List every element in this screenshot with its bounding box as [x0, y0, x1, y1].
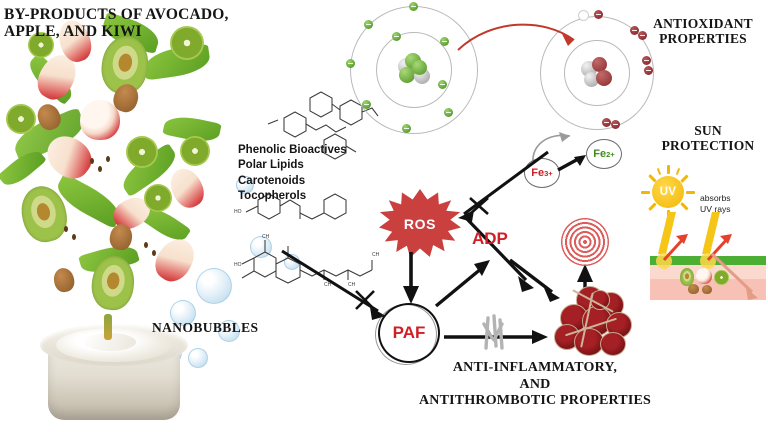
antioxidant-properties-title: ANTIOXIDANT PROPERTIES	[640, 16, 766, 46]
jar-dripping-stem	[104, 314, 112, 340]
nanobubble	[196, 268, 232, 304]
absorbs-caption-line: absorbs	[700, 193, 731, 204]
electron-transfer-arrow	[452, 16, 588, 60]
bottom-caption-line: ANTI-INFLAMMATORY,	[385, 360, 685, 377]
sun-protection-title: SUN PROTECTION	[652, 123, 764, 153]
svg-text:CH: CH	[262, 234, 270, 240]
atom-nucleus	[396, 52, 432, 88]
bottom-caption-line: AND	[385, 377, 685, 394]
electron	[392, 32, 401, 41]
electron	[402, 124, 411, 133]
electron	[362, 100, 371, 109]
electron	[642, 56, 651, 65]
electron	[644, 66, 653, 75]
uv-reflected-arrows	[658, 232, 768, 302]
ferrous-charge: 2+	[606, 150, 615, 159]
electron	[409, 2, 418, 11]
sun-title-line: PROTECTION	[652, 138, 764, 153]
uv-label: UV	[660, 186, 677, 198]
receptor-signal-rings	[561, 218, 609, 266]
svg-text:HO: HO	[234, 209, 242, 215]
electron	[364, 20, 373, 29]
page-title-line: APPLE, AND KIWI	[4, 23, 254, 40]
antioxidant-title-line: ANTIOXIDANT	[640, 16, 766, 31]
ferrous-ion-node: Fe2+	[586, 139, 622, 169]
cream-jar	[40, 300, 192, 426]
electron	[611, 120, 620, 129]
bottom-caption-line: ANTITHROMBOTIC PROPERTIES	[385, 393, 685, 410]
electron	[438, 80, 447, 89]
paf-label: PAF	[378, 303, 440, 363]
electron	[602, 118, 611, 127]
antioxidant-title-line: PROPERTIES	[640, 31, 766, 46]
bioactive-item: Phenolic Bioactives	[238, 143, 347, 158]
ros-to-clot-arrow	[462, 214, 552, 304]
electron	[346, 59, 355, 68]
ferrous-symbol: Fe	[593, 148, 606, 160]
adp-label: ADP	[472, 229, 508, 249]
electron	[594, 10, 603, 19]
bioactive-item: Carotenoids	[238, 174, 347, 189]
page-title-line: BY-PRODUCTS OF AVOCADO,	[4, 6, 254, 23]
ros-to-paf-arrow	[398, 252, 426, 308]
electron	[444, 108, 453, 117]
iron-conversion-arrow	[556, 152, 590, 176]
bioactive-item: Polar Lipids	[238, 158, 347, 173]
antioxidant-inhibits-ros-arrow	[448, 148, 558, 224]
atom-nucleus	[580, 56, 614, 90]
bioactive-item: Tocopherols	[238, 189, 347, 204]
bottom-caption: ANTI-INFLAMMATORY, AND ANTITHROMBOTIC PR…	[385, 360, 685, 410]
sun-disc: UV	[652, 176, 684, 208]
sun-title-line: SUN	[652, 123, 764, 138]
graphical-abstract: HO HO CH CH CH CH Phenolic Bioactives Po…	[0, 0, 768, 432]
svg-text:HO: HO	[234, 262, 242, 268]
electron	[440, 37, 449, 46]
platelet-aggregate	[552, 286, 636, 360]
nanobubbles-label: NANOBUBBLES	[152, 320, 258, 335]
platelet-fibrin-icon	[478, 314, 510, 354]
page-title: BY-PRODUCTS OF AVOCADO, APPLE, AND KIWI	[4, 6, 254, 41]
paf-node: PAF	[378, 303, 440, 363]
bioactives-list: Phenolic Bioactives Polar Lipids Caroten…	[238, 143, 347, 204]
sun-icon: UV	[646, 170, 690, 214]
